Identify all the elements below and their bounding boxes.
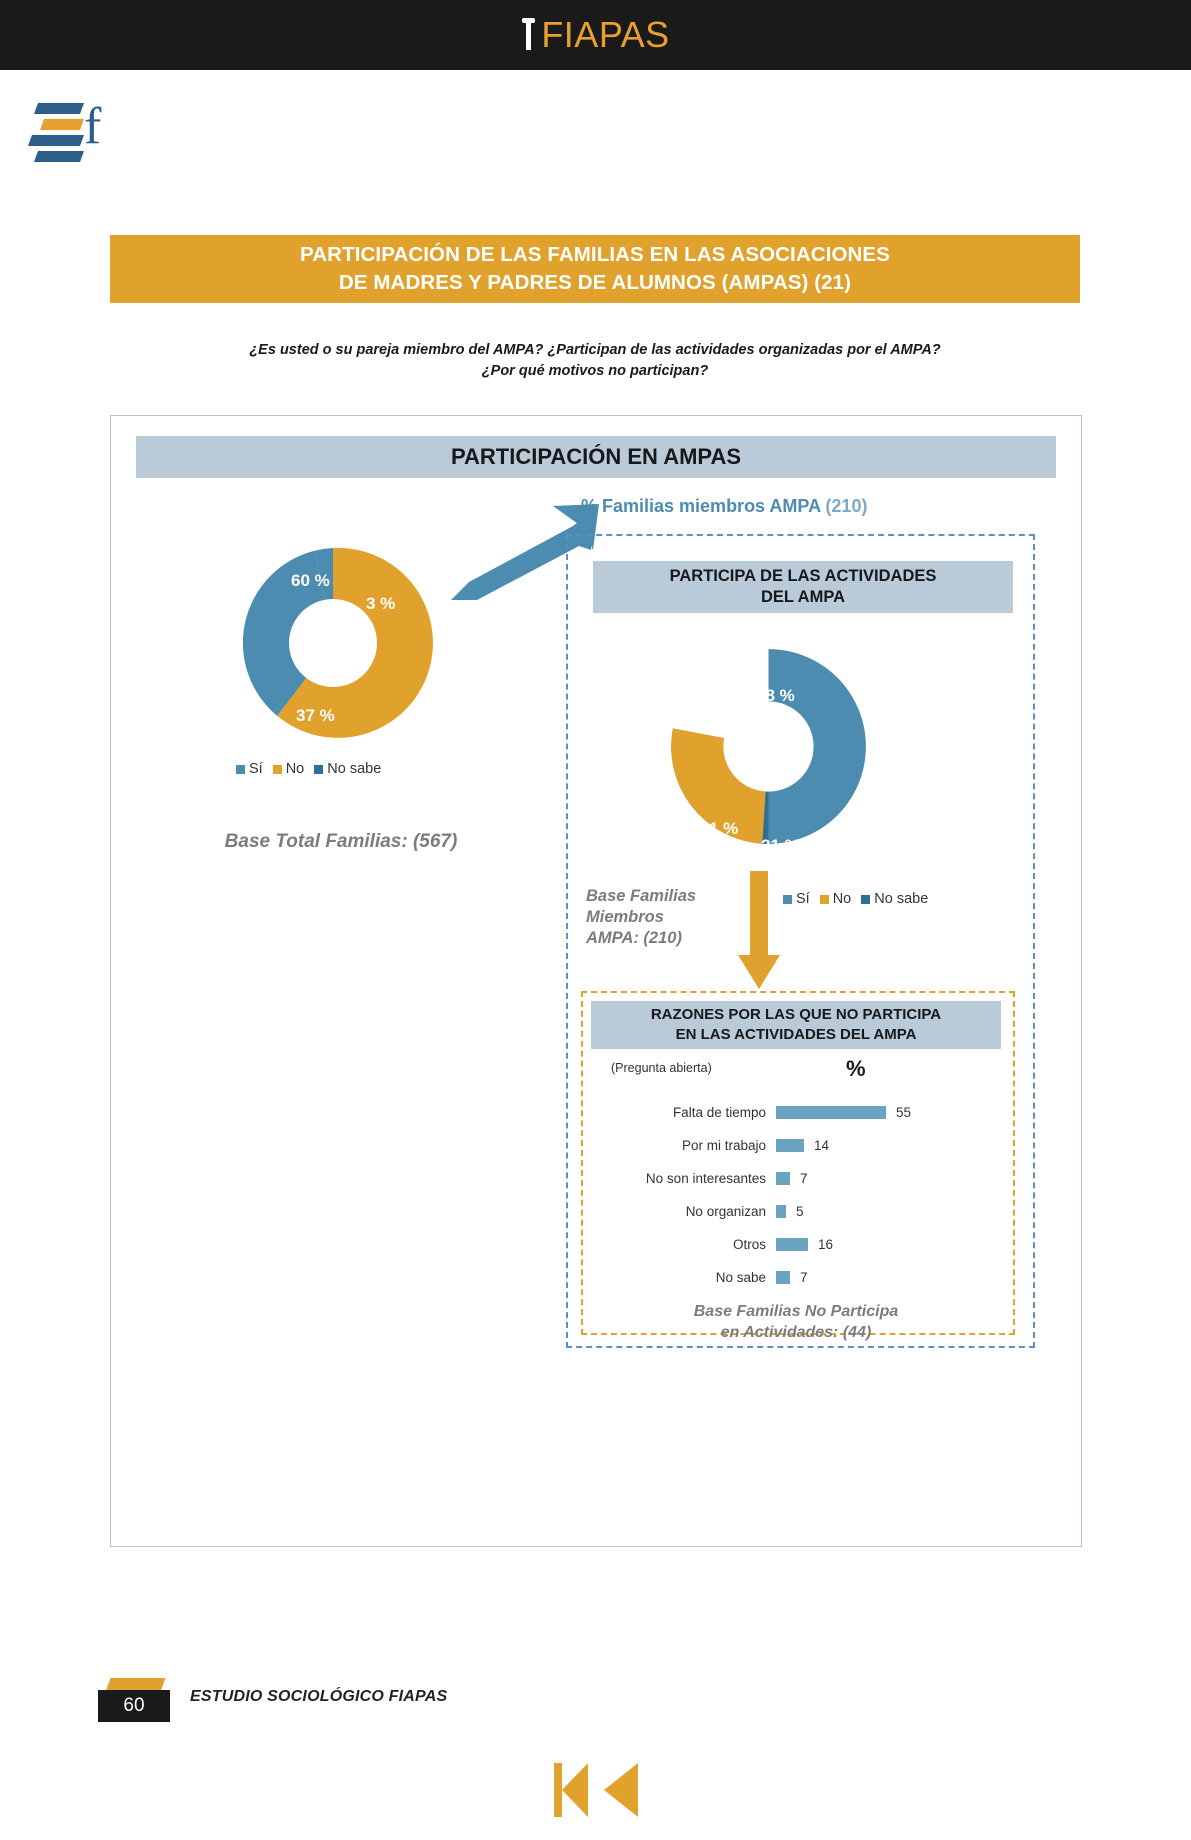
donut-left-label-no: 60 %	[291, 571, 330, 591]
top-bar: FIAPAS	[0, 0, 1191, 70]
bar-label: No organizan	[591, 1204, 776, 1219]
bar-label: No sabe	[591, 1270, 776, 1285]
bar-row: Otros 16	[591, 1228, 1011, 1261]
panel-header: PARTICIPACIÓN EN AMPAS	[136, 436, 1056, 478]
bar-value: 16	[818, 1237, 833, 1252]
legend-item-no: No	[273, 761, 305, 777]
razones-header-line1: RAZONES POR LAS QUE NO PARTICIPA	[651, 1005, 941, 1025]
razones-bar-chart: Falta de tiempo 55 Por mi trabajo 14 No …	[591, 1096, 1011, 1294]
legend-mid-label-nosabe: No sabe	[874, 891, 928, 907]
first-page-bar-icon	[554, 1763, 562, 1817]
bar-row: Falta de tiempo 55	[591, 1096, 1011, 1129]
participa-header-line2: DEL AMPA	[761, 587, 845, 608]
previous-page-triangle-icon	[604, 1763, 638, 1817]
bar-value: 55	[896, 1105, 911, 1120]
chart-panel: PARTICIPACIÓN EN AMPAS % Familias miembr…	[110, 415, 1082, 1547]
participa-header-line1: PARTICIPA DE LAS ACTIVIDADES	[670, 566, 937, 587]
bar-fill	[776, 1238, 808, 1251]
logo-stripe-2	[40, 119, 84, 130]
ampa-members-text: % Familias miembros AMPA	[581, 496, 820, 516]
bar-value: 5	[796, 1204, 804, 1219]
base-bottom-line1: Base Familias No Participa	[581, 1301, 1011, 1322]
razones-header: RAZONES POR LAS QUE NO PARTICIPA EN LAS …	[591, 1001, 1001, 1049]
bar-label: Otros	[591, 1237, 776, 1252]
page-subtitle: ¿Es usted o su pareja miembro del AMPA? …	[110, 340, 1080, 382]
page-number-tab: 60	[98, 1678, 170, 1722]
legend-swatch-nosabe	[314, 765, 323, 774]
bar-label: Por mi trabajo	[591, 1138, 776, 1153]
page-title-line1: PARTICIPACIÓN DE LAS FAMILIAS EN LAS ASO…	[300, 241, 890, 269]
page-number: 60	[98, 1690, 170, 1722]
bar-fill	[776, 1106, 886, 1119]
bar-value: 7	[800, 1270, 808, 1285]
legend-mid-item-no: No	[820, 891, 852, 907]
donut-mid-label-nosabe: 1 %	[709, 819, 738, 839]
donut-left-label-nosabe: 3 %	[366, 594, 395, 614]
logo-letter: f	[84, 101, 101, 153]
bar-row: No sabe 7	[591, 1261, 1011, 1294]
brand-logo: FIAPAS	[0, 0, 1191, 70]
ampa-members-label: % Familias miembros AMPA (210)	[581, 496, 981, 517]
brand-name: FIAPAS	[541, 14, 669, 56]
participa-actividades-header: PARTICIPA DE LAS ACTIVIDADES DEL AMPA	[593, 561, 1013, 613]
bar-fill	[776, 1271, 790, 1284]
legend-mid-label-no: No	[833, 891, 852, 907]
page-title-line2: DE MADRES Y PADRES DE ALUMNOS (AMPAS) (2…	[339, 269, 851, 297]
bar-label: Falta de tiempo	[591, 1105, 776, 1120]
pregunta-abierta-note: (Pregunta abierta)	[611, 1061, 712, 1075]
page-subtitle-line2: ¿Por qué motivos no participan?	[110, 361, 1080, 382]
corner-logo: f	[28, 95, 124, 175]
bar-value: 14	[814, 1138, 829, 1153]
first-page-triangle-icon	[562, 1763, 588, 1817]
previous-page-button[interactable]	[604, 1763, 638, 1817]
bar-row: Por mi trabajo 14	[591, 1129, 1011, 1162]
legend-left: Sí No No sabe	[236, 761, 381, 777]
donut-mid-label-si: 78 %	[756, 686, 795, 706]
base-bottom-line2: en Actividades: (44)	[581, 1322, 1011, 1343]
percent-axis-label: %	[846, 1056, 866, 1082]
page-subtitle-line1: ¿Es usted o su pareja miembro del AMPA? …	[110, 340, 1080, 361]
donut-left-label-si: 37 %	[296, 706, 335, 726]
legend-label-si: Sí	[249, 761, 263, 777]
logo-stripe-4	[34, 151, 84, 162]
donut-chart-participa-actividades	[666, 644, 871, 849]
logo-stripe-3	[28, 135, 84, 146]
legend-swatch-si	[236, 765, 245, 774]
razones-header-line2: EN LAS ACTIVIDADES DEL AMPA	[676, 1025, 917, 1045]
donut-mid-label-no: 21 %	[761, 836, 800, 856]
first-page-button[interactable]	[554, 1763, 588, 1817]
legend-item-nosabe: No sabe	[314, 761, 381, 777]
legend-mid-swatch-no	[820, 895, 829, 904]
page-title: PARTICIPACIÓN DE LAS FAMILIAS EN LAS ASO…	[110, 235, 1080, 303]
bar-fill	[776, 1139, 804, 1152]
footer-text: ESTUDIO SOCIOLÓGICO FIAPAS	[190, 1688, 447, 1706]
ampa-members-count: (210)	[825, 496, 867, 516]
bar-fill	[776, 1205, 786, 1218]
lighthouse-icon	[521, 18, 537, 52]
logo-stripe-1	[34, 103, 84, 114]
arrow-down-icon	[736, 871, 782, 991]
legend-mid-swatch-nosabe	[861, 895, 870, 904]
bar-value: 7	[800, 1171, 808, 1186]
bar-row: No son interesantes 7	[591, 1162, 1011, 1195]
bar-row: No organizan 5	[591, 1195, 1011, 1228]
bar-fill	[776, 1172, 790, 1185]
base-total-familias: Base Total Familias: (567)	[151, 831, 531, 853]
legend-item-si: Sí	[236, 761, 263, 777]
navigation-bar	[0, 1755, 1191, 1825]
bar-label: No son interesantes	[591, 1171, 776, 1186]
legend-swatch-no	[273, 765, 282, 774]
legend-label-nosabe: No sabe	[327, 761, 381, 777]
legend-mid-item-nosabe: No sabe	[861, 891, 928, 907]
base-familias-no-participa: Base Familias No Participa en Actividade…	[581, 1301, 1011, 1343]
legend-label-no: No	[286, 761, 305, 777]
